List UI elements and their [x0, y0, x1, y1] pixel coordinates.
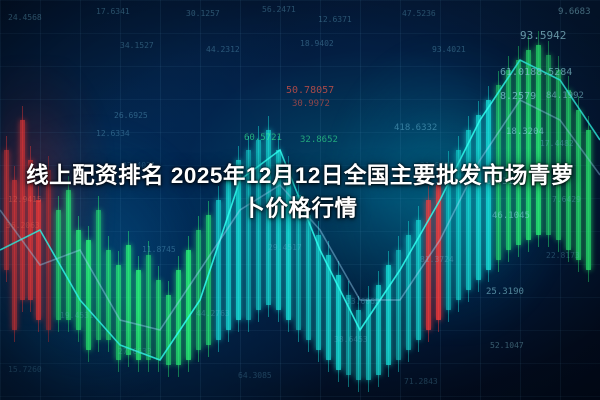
page-title: 线上配资排名 2025年12月12日全国主要批发市场青萝卜价格行情 — [18, 160, 582, 225]
headline-container: 线上配资排名 2025年12月12日全国主要批发市场青萝卜价格行情 — [0, 160, 600, 225]
stock-banner-image: 24.456817.634130.125756.247112.637147.52… — [0, 0, 600, 400]
